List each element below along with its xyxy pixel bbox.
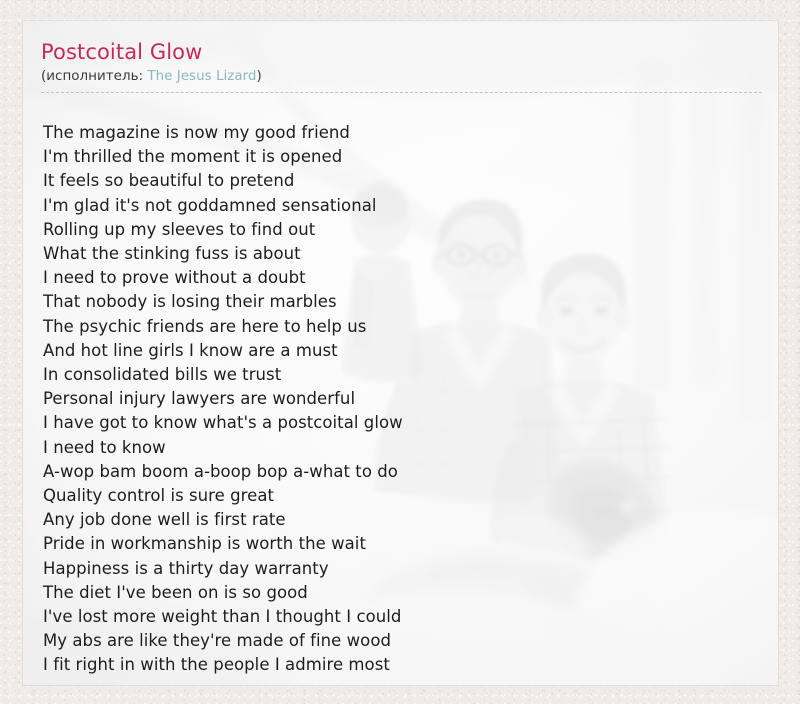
lyric-line: My abs are like they're made of fine woo… (43, 629, 753, 653)
lyric-line: Rolling up my sleeves to find out (43, 218, 753, 242)
lyrics-body: The magazine is now my good friendI'm th… (43, 121, 753, 678)
artist-prefix-label: (исполнитель: (41, 68, 147, 84)
lyric-line: Quality control is sure great (43, 484, 753, 508)
lyric-line: And hot line girls I know are a must (43, 339, 753, 363)
artist-suffix-label: ) (257, 68, 262, 84)
lyric-line: I'm glad it's not goddamned sensational (43, 194, 753, 218)
lyric-line: Personal injury lawyers are wonderful (43, 387, 753, 411)
lyric-line: The psychic friends are here to help us (43, 315, 753, 339)
lyric-line: The magazine is now my good friend (43, 121, 753, 145)
lyric-line: I need to prove without a doubt (43, 266, 753, 290)
page-title: Postcoital Glow (41, 40, 762, 65)
lyrics-content-card: Postcoital Glow (исполнитель: The Jesus … (22, 20, 779, 686)
lyric-line: I've lost more weight than I thought I c… (43, 605, 753, 629)
lyric-line: It feels so beautiful to pretend (43, 169, 753, 193)
lyric-line: Happiness is a thirty day warranty (43, 557, 753, 581)
artist-line: (исполнитель: The Jesus Lizard) (41, 68, 762, 85)
song-header: Postcoital Glow (исполнитель: The Jesus … (41, 40, 762, 93)
lyric-line: I need to know (43, 436, 753, 460)
lyric-line: That nobody is losing their marbles (43, 290, 753, 314)
lyric-line: I'm thrilled the moment it is opened (43, 145, 753, 169)
lyric-line: I fit right in with the people I admire … (43, 653, 753, 677)
lyric-line: The diet I've been on is so good (43, 581, 753, 605)
lyric-line: Any job done well is first rate (43, 508, 753, 532)
artist-link[interactable]: The Jesus Lizard (147, 68, 256, 84)
lyric-line: I have got to know what's a postcoital g… (43, 411, 753, 435)
lyric-line: What the stinking fuss is about (43, 242, 753, 266)
lyric-line: Pride in workmanship is worth the wait (43, 532, 753, 556)
lyric-line: A-wop bam boom a-boop bop a-what to do (43, 460, 753, 484)
lyric-line: In consolidated bills we trust (43, 363, 753, 387)
